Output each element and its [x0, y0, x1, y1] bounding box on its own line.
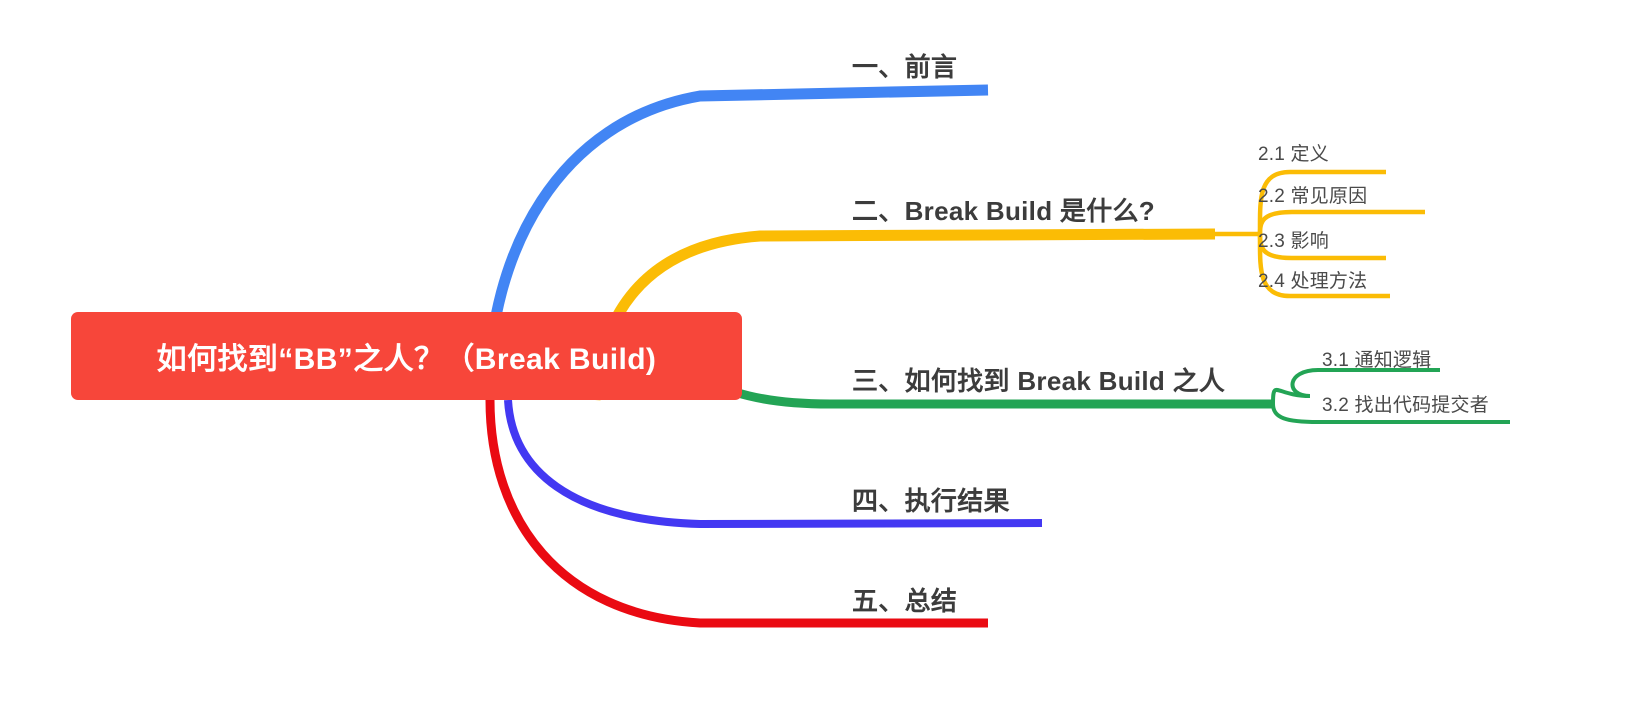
subtopic-label-3-1: 3.1 通知逻辑	[1322, 350, 1431, 371]
subtopic-node-3-1[interactable]: 3.1 通知逻辑	[1322, 345, 1431, 372]
topic-label-4: 四、执行结果	[852, 486, 1010, 516]
topic-node-5[interactable]: 五、总结	[852, 581, 957, 618]
subtopic-label-2-2: 2.2 常见原因	[1258, 186, 1367, 207]
topic-node-1[interactable]: 一、前言	[852, 47, 957, 84]
topic-label-5: 五、总结	[852, 586, 957, 616]
subtopic-label-2-3: 2.3 影响	[1258, 231, 1329, 252]
subtopic-label-2-4: 2.4 处理方法	[1258, 271, 1367, 292]
subtopic-node-2-1[interactable]: 2.1 定义	[1258, 139, 1329, 166]
topic-node-4[interactable]: 四、执行结果	[852, 481, 1010, 518]
subtopic-node-2-3[interactable]: 2.3 影响	[1258, 226, 1329, 253]
subtopic-node-2-4[interactable]: 2.4 处理方法	[1258, 266, 1367, 293]
central-topic-node[interactable]: 如何找到“BB”之人？（Break Build)	[71, 312, 742, 400]
central-topic-label: 如何找到“BB”之人？（Break Build)	[157, 334, 657, 378]
subtopic-label-2-1: 2.1 定义	[1258, 144, 1329, 165]
topic-label-1: 一、前言	[852, 52, 957, 82]
subtopic-node-3-2[interactable]: 3.2 找出代码提交者	[1322, 390, 1489, 417]
topic-label-3: 三、如何找到 Break Build 之人	[852, 366, 1225, 396]
subtopic-label-3-2: 3.2 找出代码提交者	[1322, 395, 1489, 416]
mindmap-canvas: 如何找到“BB”之人？（Break Build) 一、前言 二、Break Bu…	[0, 0, 1644, 727]
topic-node-2[interactable]: 二、Break Build 是什么?	[852, 191, 1155, 228]
topic-label-2: 二、Break Build 是什么?	[852, 196, 1155, 226]
topic-node-3[interactable]: 三、如何找到 Break Build 之人	[852, 361, 1225, 398]
subtopic-node-2-2[interactable]: 2.2 常见原因	[1258, 181, 1367, 208]
